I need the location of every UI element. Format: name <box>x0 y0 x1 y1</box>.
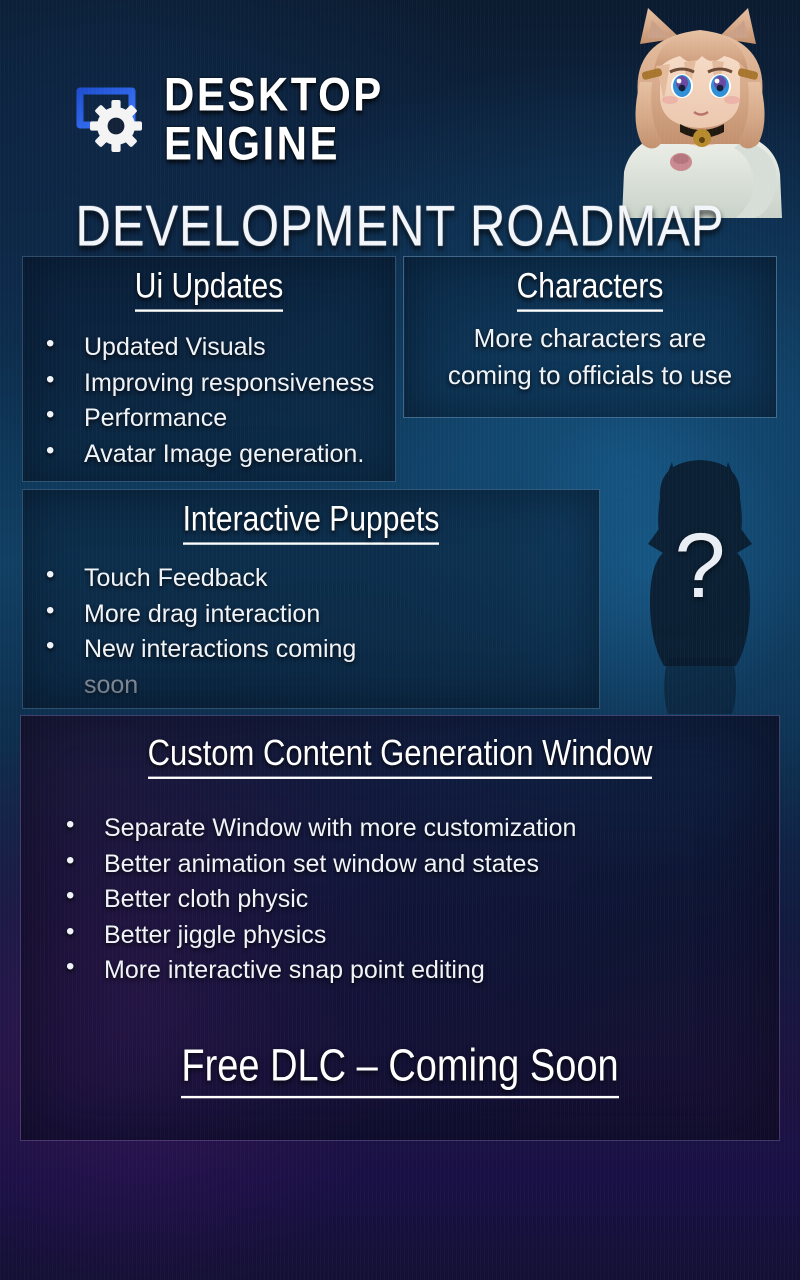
card-title-custom-content: Custom Content Generation Window <box>20 732 780 774</box>
bullet-icon: • <box>66 953 104 979</box>
avatar <box>604 4 800 218</box>
bullet-icon: • <box>66 918 104 944</box>
list-item: • More drag interaction <box>46 597 600 633</box>
question-mark-icon: ? <box>620 514 780 619</box>
list-item: • Performance <box>46 401 396 437</box>
list-item: • Separate Window with more customizatio… <box>66 811 780 847</box>
list-item: • Improving responsiveness <box>46 366 396 402</box>
bullet-icon: • <box>46 632 84 658</box>
card-title-ui-updates: Ui Updates <box>22 267 396 307</box>
card-title-characters: Characters <box>403 267 777 307</box>
feature-list-interactive-puppets: • Touch Feedback • More drag interaction… <box>22 561 600 668</box>
feature-list-custom-content: • Separate Window with more customizatio… <box>20 811 780 989</box>
list-item: • Better animation set window and states <box>66 847 780 883</box>
bullet-icon: • <box>46 597 84 623</box>
card-ui-updates: Ui Updates • Updated Visuals • Improving… <box>22 256 396 482</box>
bullet-icon: • <box>46 330 84 356</box>
list-item: • Better jiggle physics <box>66 918 780 954</box>
mystery-character-silhouette: ? <box>620 452 780 714</box>
bullet-icon: • <box>46 366 84 392</box>
bullet-icon: • <box>66 811 104 837</box>
list-item: • Avatar Image generation. <box>46 437 396 473</box>
page-title: DEVELOPMENT ROADMAP <box>0 192 800 259</box>
free-dlc-callout: Free DLC – Coming Soon <box>20 1041 780 1093</box>
bullet-icon: • <box>46 437 84 463</box>
list-item: • Better cloth physic <box>66 882 780 918</box>
card-custom-content-generation: Custom Content Generation Window • Separ… <box>20 715 780 1141</box>
roadmap-poster: ? <box>0 0 800 1280</box>
brand-logo: DESKTOP ENGINE <box>72 76 384 163</box>
list-item: • Touch Feedback <box>46 561 600 597</box>
card-body-characters: More characters are coming to officials … <box>403 320 777 394</box>
list-item: • New interactions coming <box>46 632 600 668</box>
feature-list-ui-updates: • Updated Visuals • Improving responsive… <box>22 330 396 472</box>
monitor-gear-icon <box>72 85 146 155</box>
list-item: • More interactive snap point editing <box>66 953 780 989</box>
bullet-icon: • <box>66 882 104 908</box>
card-title-interactive-puppets: Interactive Puppets <box>22 500 600 540</box>
list-item: • Updated Visuals <box>46 330 396 366</box>
brand-name-line2: ENGINE <box>164 122 384 165</box>
brand-name-line1: DESKTOP <box>164 74 384 117</box>
card-characters: Characters More characters are coming to… <box>403 256 777 418</box>
bullet-icon: • <box>66 847 104 873</box>
card-interactive-puppets: Interactive Puppets • Touch Feedback • M… <box>22 489 600 709</box>
bullet-icon: • <box>46 561 84 587</box>
bullet-icon: • <box>46 401 84 427</box>
